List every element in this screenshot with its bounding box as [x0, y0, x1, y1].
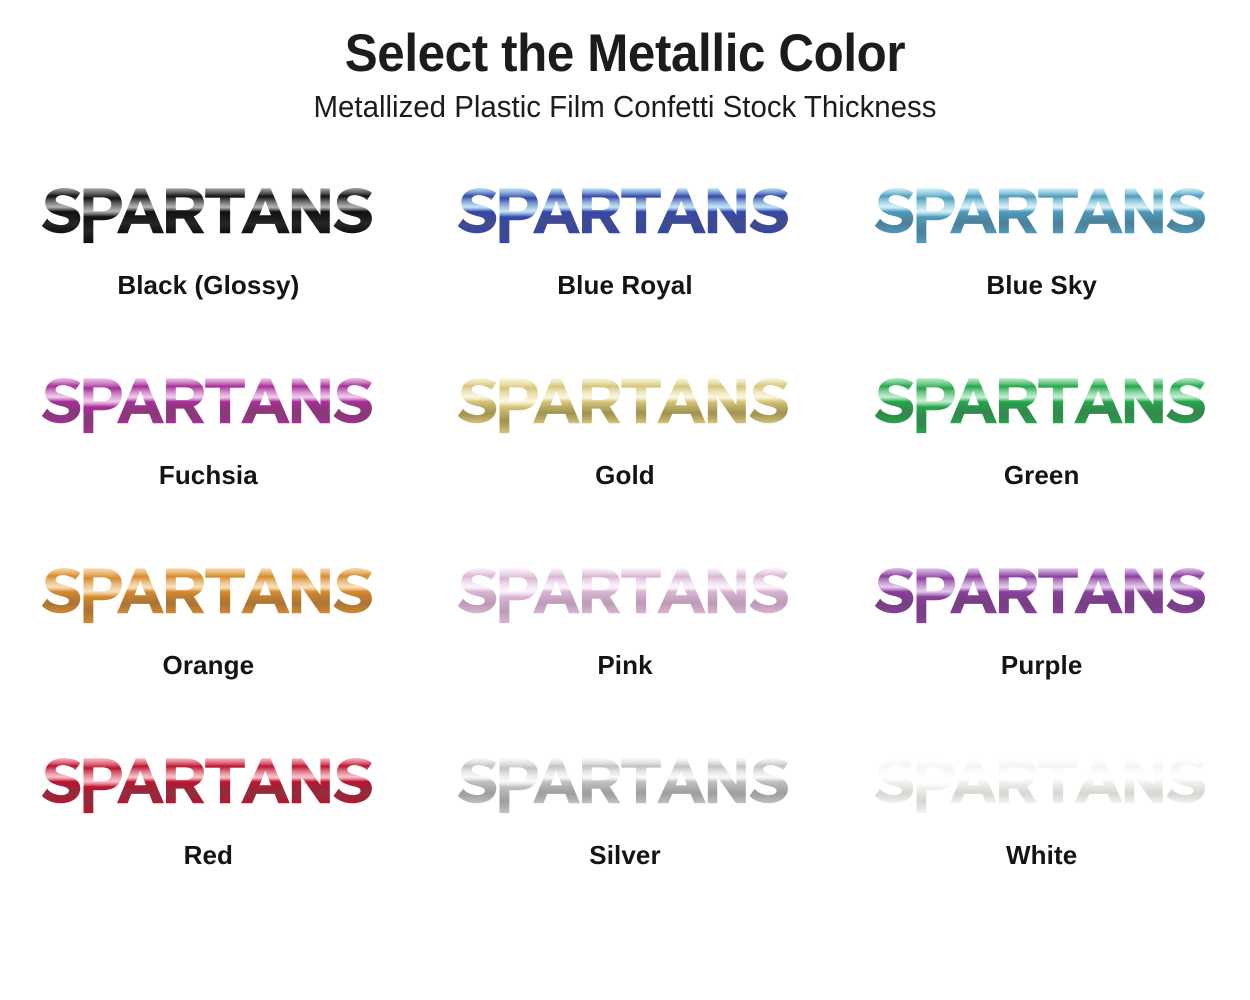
spartans-wordart-svg	[874, 561, 1209, 625]
wordart-fill	[42, 188, 372, 243]
color-selector-page: Select the Metallic Color Metallized Pla…	[0, 0, 1250, 1000]
wordart-fill	[875, 378, 1205, 433]
wordart-fill	[42, 378, 372, 433]
color-swatch-pink[interactable]: Pink	[417, 538, 834, 728]
spartans-wordart-svg	[874, 371, 1209, 435]
spartans-wordart-gold	[445, 348, 805, 458]
wordart-fill	[875, 568, 1205, 623]
wordart-fill	[42, 568, 372, 623]
color-swatch-purple[interactable]: Purple	[833, 538, 1250, 728]
page-header: Select the Metallic Color Metallized Pla…	[0, 0, 1250, 124]
color-swatch-label: Red	[184, 840, 233, 871]
color-swatch-label: Blue Royal	[557, 270, 692, 301]
color-swatch-black-glossy[interactable]: Black (Glossy)	[0, 158, 417, 348]
color-swatch-label: Gold	[595, 460, 655, 491]
spartans-wordart-svg	[457, 371, 792, 435]
color-swatch-label: Green	[1004, 460, 1080, 491]
color-swatch-silver[interactable]: Silver	[417, 728, 834, 918]
spartans-wordart-green	[862, 348, 1222, 458]
spartans-wordart-silver	[445, 728, 805, 838]
color-swatch-green[interactable]: Green	[833, 348, 1250, 538]
color-swatch-fuchsia[interactable]: Fuchsia	[0, 348, 417, 538]
color-swatch-label: Silver	[589, 840, 660, 871]
color-swatch-red[interactable]: Red	[0, 728, 417, 918]
wordart-fill	[42, 758, 372, 813]
color-swatch-blue-sky[interactable]: Blue Sky	[833, 158, 1250, 348]
color-swatch-gold[interactable]: Gold	[417, 348, 834, 538]
spartans-wordart-svg	[457, 181, 792, 245]
spartans-wordart-svg	[457, 561, 792, 625]
wordart-fill	[875, 188, 1205, 243]
wordart-fill	[458, 568, 788, 623]
spartans-wordart-white	[862, 728, 1222, 838]
color-swatch-orange[interactable]: Orange	[0, 538, 417, 728]
spartans-wordart-blue-royal	[445, 158, 805, 268]
color-swatch-label: Purple	[1001, 650, 1083, 681]
page-title: Select the Metallic Color	[44, 26, 1207, 82]
color-swatch-label: Pink	[597, 650, 652, 681]
wordart-fill	[458, 188, 788, 243]
page-subtitle: Metallized Plastic Film Confetti Stock T…	[31, 90, 1219, 124]
color-swatch-white[interactable]: White	[833, 728, 1250, 918]
spartans-wordart-fuchsia	[28, 348, 388, 458]
color-swatch-label: Fuchsia	[159, 460, 258, 491]
spartans-wordart-orange	[28, 538, 388, 648]
wordart-fill	[458, 758, 788, 813]
color-swatch-grid: Black (Glossy)Blue RoyalBlue SkyFuchsiaG…	[0, 158, 1250, 918]
spartans-wordart-svg	[41, 371, 376, 435]
wordart-fill	[875, 758, 1205, 813]
spartans-wordart-svg	[41, 561, 376, 625]
spartans-wordart-svg	[41, 751, 376, 815]
color-swatch-label: Blue Sky	[986, 270, 1097, 301]
spartans-wordart-red	[28, 728, 388, 838]
color-swatch-label: White	[1006, 840, 1077, 871]
color-swatch-label: Black (Glossy)	[117, 270, 299, 301]
color-swatch-blue-royal[interactable]: Blue Royal	[417, 158, 834, 348]
spartans-wordart-pink	[445, 538, 805, 648]
spartans-wordart-black-glossy	[28, 158, 388, 268]
spartans-wordart-blue-sky	[862, 158, 1222, 268]
spartans-wordart-svg	[41, 181, 376, 245]
color-swatch-label: Orange	[163, 650, 255, 681]
spartans-wordart-svg	[457, 751, 792, 815]
wordart-fill	[458, 378, 788, 433]
spartans-wordart-svg	[874, 751, 1209, 815]
spartans-wordart-purple	[862, 538, 1222, 648]
spartans-wordart-svg	[874, 181, 1209, 245]
